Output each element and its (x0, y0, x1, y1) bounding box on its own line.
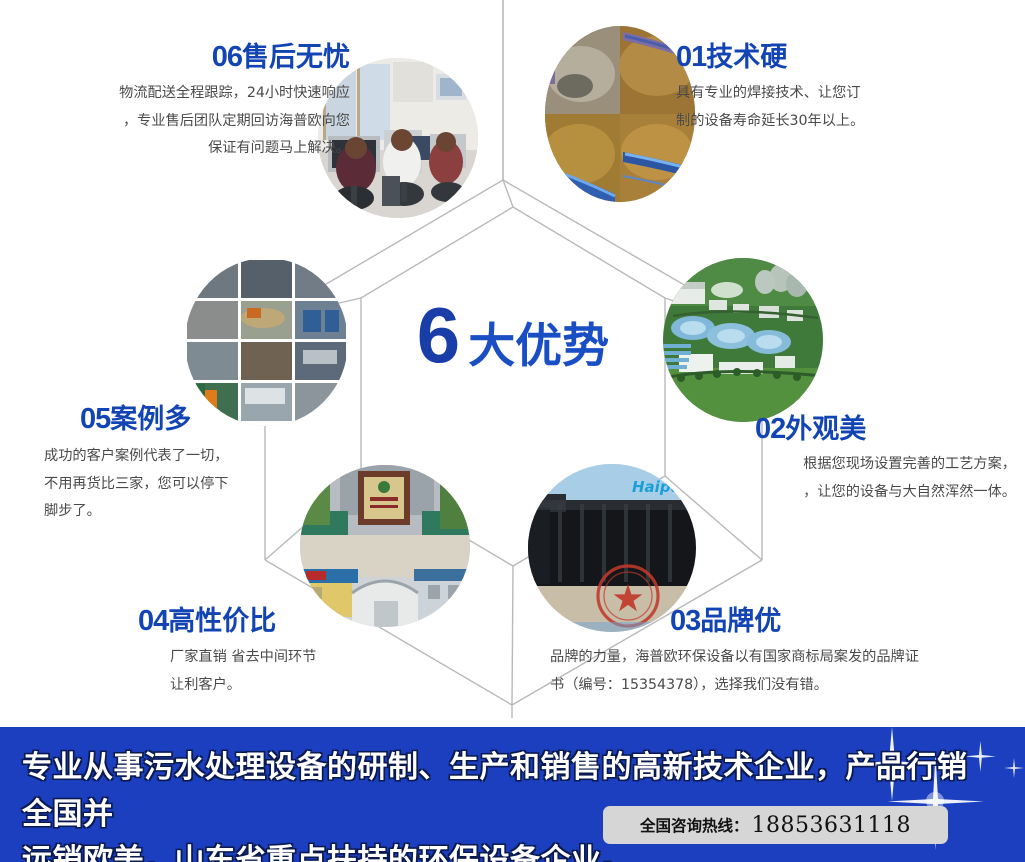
feature-05-number: 05 (80, 403, 110, 435)
hotline-number: 18853631118 (752, 813, 911, 838)
feature-05-title: 05案例多 (80, 404, 344, 434)
welding-photo (545, 26, 695, 202)
feature-06: 06售后无忧 物流配送全程跟踪，24小时快速响应 ，专业售后团队定期回访海普欧向… (20, 42, 350, 162)
feature-03-title: 03品牌优 (670, 606, 960, 636)
feature-06-title: 06售后无忧 (20, 42, 350, 72)
center-number: 6 (417, 296, 458, 374)
feature-01-number: 01 (676, 41, 706, 73)
feature-02-desc: 根据您现场设置完善的工艺方案， ，让您的设备与大自然浑然一体。 (690, 451, 1016, 506)
feature-01-label: 技术硬 (706, 42, 787, 73)
banner-headline: 专业从事污水处理设备的研制、生产和销售的高新技术企业，产品行销全国并 远销欧美，… (22, 745, 997, 862)
center-badge: 6 大优势 (398, 296, 628, 382)
feature-06-label: 售后无忧 (242, 42, 350, 73)
feature-03-desc: 品牌的力量，海普欧环保设备以有国家商标局案发的品牌证 书（编号：15354378… (550, 644, 960, 699)
brand-logo-text: Haipuou (632, 478, 696, 496)
feature-03: 03品牌优 品牌的力量，海普欧环保设备以有国家商标局案发的品牌证 书（编号：15… (540, 606, 960, 699)
spoke-bottom (512, 566, 513, 705)
infographic-page: Haipuou 6 大优势 06售后无忧 物流配送全程跟踪，24小时快速响应 ，… (0, 0, 1025, 862)
feature-05-label: 案例多 (110, 404, 191, 435)
feature-04-label: 高性价比 (168, 606, 276, 637)
feature-03-number: 03 (670, 605, 700, 637)
hotline-box[interactable]: 全国咨询热线： 18853631118 (603, 806, 948, 844)
feature-02-label: 外观美 (785, 414, 866, 445)
feature-01-desc: 具有专业的焊接技术、让您订 制的设备寿命延长30年以上。 (676, 80, 1016, 135)
feature-02-title: 02外观美 (755, 414, 1016, 444)
feature-01: 01技术硬 具有专业的焊接技术、让您订 制的设备寿命延长30年以上。 (676, 42, 1016, 135)
feature-04-number: 04 (138, 605, 168, 637)
feature-04-title: 04高性价比 (138, 606, 438, 636)
feature-06-desc: 物流配送全程跟踪，24小时快速响应 ，专业售后团队定期回访海普欧向您 保证有问题… (20, 80, 350, 162)
treatment-plant-aerial-photo (663, 258, 823, 422)
feature-02-number: 02 (755, 413, 785, 445)
center-label: 大优势 (468, 323, 609, 370)
feature-01-title: 01技术硬 (676, 42, 1016, 72)
feature-05-desc: 成功的客户案例代表了一切， 不用再货比三家，您可以停下 脚步了。 (44, 443, 344, 525)
feature-05: 05案例多 成功的客户案例代表了一切， 不用再货比三家，您可以停下 脚步了。 (44, 404, 344, 525)
feature-06-number: 06 (212, 41, 242, 73)
case-collage-photo (185, 258, 348, 426)
hotline-label: 全国咨询热线： (640, 814, 749, 836)
feature-04: 04高性价比 厂家直销 省去中间环节 让利客户。 (138, 606, 438, 699)
feature-04-desc: 厂家直销 省去中间环节 让利客户。 (170, 644, 438, 699)
feature-03-label: 品牌优 (700, 606, 781, 637)
spoke-top (503, 180, 513, 207)
feature-02: 02外观美 根据您现场设置完善的工艺方案， ，让您的设备与大自然浑然一体。 (690, 414, 1016, 506)
